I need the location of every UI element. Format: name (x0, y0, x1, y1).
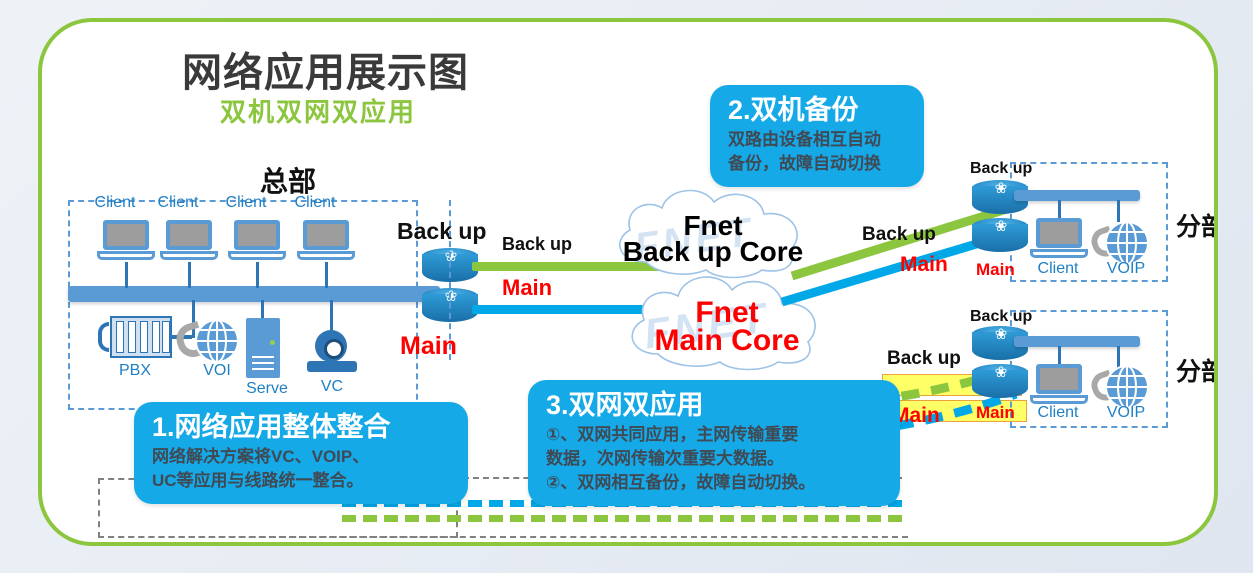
laptop-screen (303, 220, 349, 250)
client-stub (125, 262, 128, 288)
hq-client-label: Client (153, 194, 203, 211)
branch1-main-line-label: Main (900, 253, 948, 277)
branch3-client-laptop[interactable] (1030, 364, 1088, 406)
laptop-screen (1036, 218, 1082, 248)
laptop-screen (1036, 364, 1082, 394)
hq-client-laptop[interactable] (97, 220, 155, 262)
handset-glyph (98, 322, 109, 352)
voip-label: VOI (187, 362, 247, 379)
pbx-icon[interactable] (98, 316, 172, 358)
callout-2-line-1: 双路由设备相互自动 (728, 129, 908, 151)
laptop-screen (103, 220, 149, 250)
diagram-frame: 网络应用展示图 双机双网双应用 总部 Client Client Client … (38, 18, 1218, 546)
main-core-line2: Main Core (612, 326, 842, 357)
server-vent (252, 362, 274, 364)
branch1-voip-label: VOIP (1100, 260, 1152, 277)
branch1-client-laptop[interactable] (1030, 218, 1088, 260)
hq-client-laptop[interactable] (160, 220, 218, 262)
vc-stub (330, 300, 333, 334)
hq-router-divider (449, 200, 451, 360)
server-led (270, 340, 275, 345)
server-vent (252, 356, 274, 358)
page-subtitle: 双机双网双应用 (220, 92, 416, 129)
branch3-bus (1014, 336, 1140, 347)
branch1-client-label: Client (1033, 260, 1083, 277)
laptop-screen (166, 220, 212, 250)
pbx-label: PBX (100, 362, 170, 379)
hq-client-laptop[interactable] (228, 220, 286, 262)
hq-client-label: Client (221, 194, 271, 211)
callout-1-title: 1.网络应用整体整合 (152, 412, 452, 444)
pbx-slot (128, 321, 136, 353)
callout-3-line-1: ①、双网共同应用，主网传输重要 (546, 424, 884, 446)
hq-client-label: Client (90, 194, 140, 211)
branch1-router-main-label: Main (976, 260, 1015, 280)
router-arrows-icon: ❀ (972, 220, 1028, 234)
laptop-screen (234, 220, 280, 250)
callout-2-line-2: 备份，故障自动切换 (728, 153, 908, 175)
page-title: 网络应用展示图 (182, 40, 469, 98)
branch1-router-backup-label: Back up (970, 160, 1032, 178)
branch1-label: 分部1 (1176, 207, 1218, 243)
hq-backbone-bus (68, 286, 440, 302)
client-stub (325, 262, 328, 288)
callout-1[interactable]: 1.网络应用整体整合 网络解决方案将VC、VOIP、 UC等应用与线路统一整合。 (134, 402, 468, 504)
camera-lens (315, 330, 347, 362)
callout-3[interactable]: 3.双网双应用 ①、双网共同应用，主网传输重要 数据，次网传输次重要大数据。 ②… (528, 380, 900, 506)
pbx-slot (140, 321, 148, 353)
callout-3-line-3: ②、双网相互备份，故障自动切换。 (546, 472, 884, 494)
server-icon[interactable] (246, 318, 280, 378)
branch1-client-stub (1058, 200, 1061, 220)
branch1-voip-stub (1117, 200, 1120, 222)
laptop-base (297, 251, 355, 260)
branch3-router-main-label: Main (976, 403, 1015, 423)
branch3-router-backup-label: Back up (970, 308, 1032, 326)
router-arrows-icon: ❀ (972, 366, 1028, 380)
server-stub (261, 300, 264, 320)
laptop-base (160, 251, 218, 260)
vc-label: VC (307, 378, 357, 395)
client-stub (188, 262, 191, 288)
hq-client-laptop[interactable] (297, 220, 355, 262)
pbx-slot (116, 321, 124, 353)
branch1-backup-line-label: Back up (862, 224, 936, 246)
pbx-slot (152, 321, 160, 353)
callout-3-title: 3.双网双应用 (546, 390, 884, 422)
hq-to-main-core-label: Main (502, 275, 552, 301)
client-stub (256, 262, 259, 288)
laptop-base (97, 251, 155, 260)
laptop-base (1030, 249, 1088, 258)
callout-3-line-2: 数据，次网传输次重要大数据。 (546, 448, 884, 470)
callout-2-title: 2.双机备份 (728, 95, 908, 127)
branch3-client-stub (1058, 346, 1061, 366)
hq-to-backup-core-label: Back up (502, 234, 572, 255)
camera-base (307, 361, 357, 372)
branch3-label: 分部3 (1176, 352, 1218, 388)
hq-router-backup-label: Back up (397, 218, 486, 245)
bottom-gray-dashed-line-2 (98, 536, 908, 538)
branch3-backup-line-label: Back up (887, 348, 961, 370)
branch3-router-main[interactable]: ❀ (972, 364, 1028, 404)
callout-1-line-1: 网络解决方案将VC、VOIP、 (152, 446, 452, 468)
branch3-voip-label: VOIP (1100, 404, 1152, 421)
bottom-green-dashed-line (342, 515, 902, 522)
laptop-base (1030, 395, 1088, 404)
voip-globe-icon[interactable] (194, 318, 240, 364)
server-label: Serve (237, 380, 297, 397)
callout-2[interactable]: 2.双机备份 双路由设备相互自动 备份，故障自动切换 (710, 85, 924, 187)
callout-1-line-2: UC等应用与线路统一整合。 (152, 470, 452, 492)
pbx-slot (162, 321, 170, 353)
hq-client-label: Client (290, 194, 340, 211)
laptop-base (228, 251, 286, 260)
vc-camera-icon[interactable] (307, 330, 357, 376)
branch1-router-main[interactable]: ❀ (972, 218, 1028, 258)
branch1-bus (1014, 190, 1140, 201)
branch3-client-label: Client (1033, 404, 1083, 421)
server-vent (252, 368, 274, 370)
